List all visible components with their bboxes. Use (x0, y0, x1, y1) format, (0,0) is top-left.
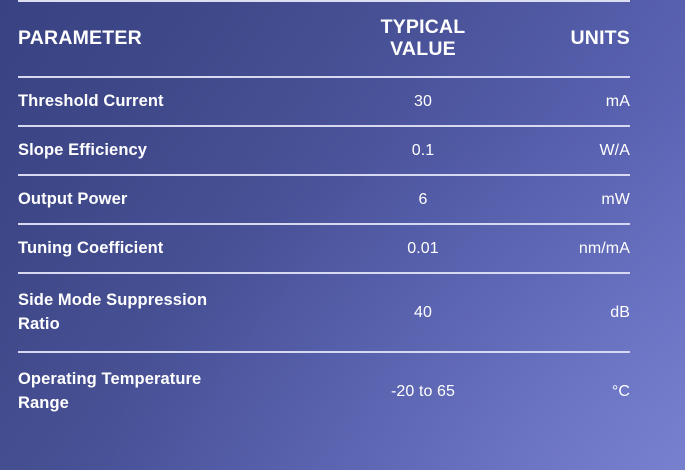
table-row: Tuning Coefficient 0.01 nm/mA (18, 224, 630, 273)
row-value-slope-efficiency: 0.1 (358, 126, 488, 175)
row-parameter-tuning-coefficient: Tuning Coefficient (18, 224, 358, 273)
column-header-typical-value-line1: TYPICAL (358, 17, 488, 39)
row-parameter-operating-temperature-range: Operating Temperature Range (18, 352, 358, 430)
units-text: mW (601, 191, 630, 208)
table-header: PARAMETER TYPICAL VALUE UNITS (18, 1, 630, 77)
row-value-side-mode-suppression-ratio: 40 (358, 273, 488, 352)
parameter-label: Threshold Current (18, 92, 164, 110)
value-text: -20 to 65 (391, 383, 455, 400)
column-header-units-label: UNITS (571, 27, 631, 49)
table-row: Operating Temperature Range -20 to 65 °C (18, 352, 630, 430)
parameter-label-line1: Side Mode Suppression (18, 289, 358, 312)
row-parameter-threshold-current: Threshold Current (18, 77, 358, 126)
column-header-parameter-label: PARAMETER (18, 27, 142, 49)
table-row: Threshold Current 30 mA (18, 77, 630, 126)
parameter-label-line1: Operating Temperature (18, 368, 358, 391)
row-units-operating-temperature-range: °C (488, 352, 630, 430)
table-row: Output Power 6 mW (18, 175, 630, 224)
parameter-label: Output Power (18, 190, 127, 208)
row-value-tuning-coefficient: 0.01 (358, 224, 488, 273)
specification-table: PARAMETER TYPICAL VALUE UNITS Threshold … (18, 0, 630, 430)
row-parameter-output-power: Output Power (18, 175, 358, 224)
row-value-threshold-current: 30 (358, 77, 488, 126)
units-text: dB (610, 304, 630, 321)
value-text: 0.1 (412, 142, 435, 159)
units-text: mA (606, 93, 630, 110)
row-units-threshold-current: mA (488, 77, 630, 126)
table-body: Threshold Current 30 mA Slope Efficiency… (18, 77, 630, 430)
row-value-output-power: 6 (358, 175, 488, 224)
row-units-side-mode-suppression-ratio: dB (488, 273, 630, 352)
parameter-label: Slope Efficiency (18, 141, 147, 159)
parameter-label-line2: Ratio (18, 313, 358, 336)
row-parameter-slope-efficiency: Slope Efficiency (18, 126, 358, 175)
column-header-typical-value-line2: VALUE (358, 39, 488, 61)
header-row: PARAMETER TYPICAL VALUE UNITS (18, 2, 630, 77)
column-header-typical-value: TYPICAL VALUE (358, 2, 488, 77)
parameter-label: Tuning Coefficient (18, 239, 163, 257)
row-units-output-power: mW (488, 175, 630, 224)
parameter-label-line2: Range (18, 392, 358, 415)
column-header-units: UNITS (488, 2, 630, 77)
table-row: Slope Efficiency 0.1 W/A (18, 126, 630, 175)
value-text: 0.01 (407, 240, 439, 257)
table-row: Side Mode Suppression Ratio 40 dB (18, 273, 630, 352)
value-text: 40 (414, 304, 432, 321)
row-parameter-side-mode-suppression-ratio: Side Mode Suppression Ratio (18, 273, 358, 352)
value-text: 30 (414, 93, 432, 110)
table-container: PARAMETER TYPICAL VALUE UNITS Threshold … (0, 0, 685, 430)
units-text: °C (612, 383, 630, 400)
specification-table-card: PARAMETER TYPICAL VALUE UNITS Threshold … (0, 0, 685, 470)
column-header-parameter: PARAMETER (18, 2, 358, 77)
row-value-operating-temperature-range: -20 to 65 (358, 352, 488, 430)
units-text: W/A (599, 142, 630, 159)
row-units-tuning-coefficient: nm/mA (488, 224, 630, 273)
value-text: 6 (419, 191, 428, 208)
units-text: nm/mA (579, 240, 630, 257)
row-units-slope-efficiency: W/A (488, 126, 630, 175)
